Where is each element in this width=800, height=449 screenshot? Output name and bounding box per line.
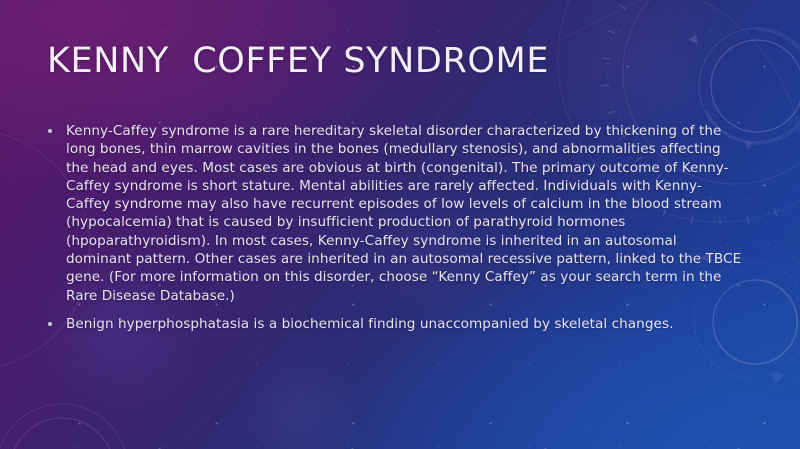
slide-body: Kenny-Caffey syndrome is a rare heredita… — [44, 122, 744, 343]
bullet-text: Benign hyperphosphatasia is a biochemica… — [66, 315, 744, 333]
page-title: KENNY COFFEY SYNDROME — [47, 41, 549, 81]
list-item: Kenny-Caffey syndrome is a rare heredita… — [44, 122, 744, 305]
bottom-left-arc — [0, 404, 128, 449]
list-item: Benign hyperphosphatasia is a biochemica… — [44, 315, 744, 333]
presentation-slide: KENNY COFFEY SYNDROME Kenny-Caffey syndr… — [0, 0, 800, 449]
bullet-dot-icon — [48, 129, 52, 133]
bullet-dot-icon — [48, 322, 52, 326]
bullet-text: Kenny-Caffey syndrome is a rare heredita… — [66, 122, 744, 305]
